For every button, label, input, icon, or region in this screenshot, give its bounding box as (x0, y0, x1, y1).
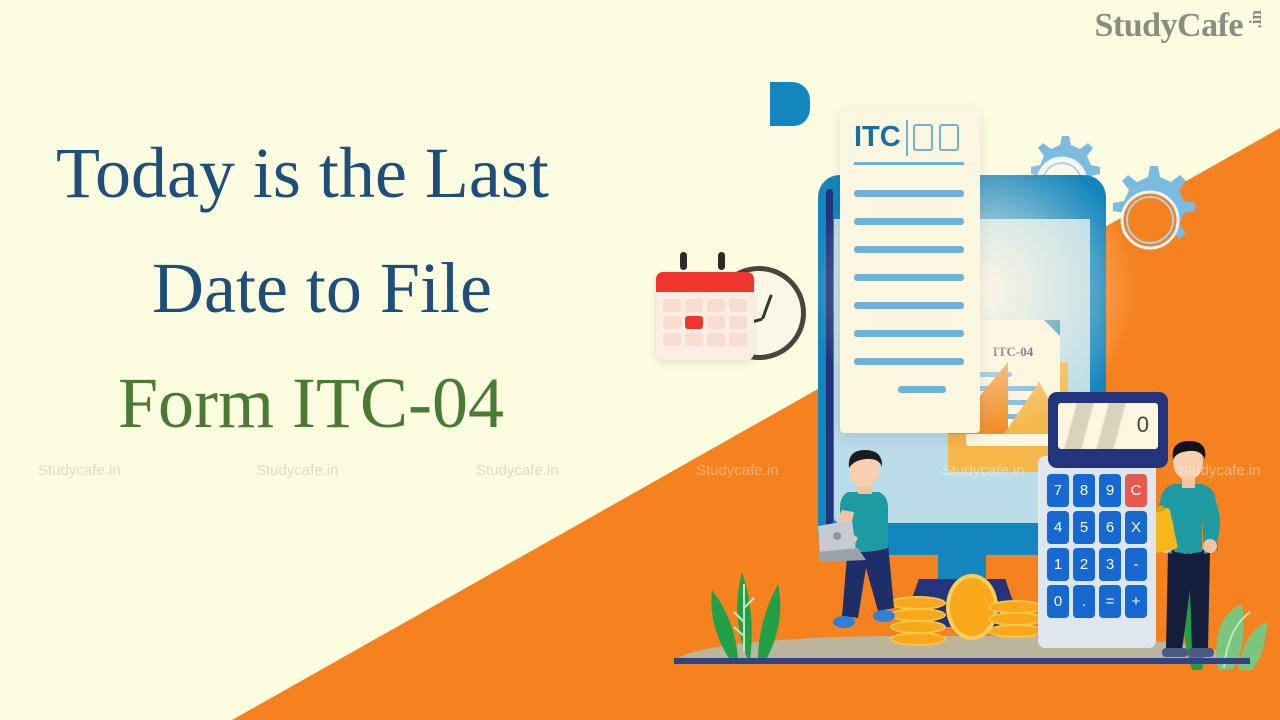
calculator-display: 0 (1058, 403, 1158, 449)
document-text-line (854, 218, 964, 225)
document-text-line (854, 330, 964, 337)
headline: Today is the Last Date to File Form ITC-… (0, 116, 700, 461)
document-text-line (854, 358, 964, 365)
headline-line-3: Form ITC-04 (0, 346, 700, 461)
calc-key[interactable]: = (1099, 585, 1121, 618)
calc-key[interactable]: 8 (1073, 474, 1095, 507)
document-text-line (854, 246, 964, 253)
banner-canvas: StudyCafe .in Today is the Last Date to … (0, 0, 1280, 720)
calc-key[interactable]: 9 (1099, 474, 1121, 507)
document-text-line (854, 302, 964, 309)
calc-key[interactable]: 3 (1099, 548, 1121, 581)
display-glare (1062, 403, 1136, 449)
document-rule (854, 162, 964, 165)
hero-illustration: ITC-04 ITC (640, 80, 1280, 680)
calc-key[interactable]: 7 (1047, 474, 1069, 507)
calculator-display-housing: 0 (1048, 392, 1168, 468)
calc-key[interactable]: 4 (1047, 511, 1069, 544)
studycafe-logo[interactable]: StudyCafe .in (1094, 6, 1264, 46)
watermark: Studycafe.in (942, 462, 1025, 479)
calc-key[interactable]: - (1125, 548, 1147, 581)
watermark: Studycafe.in (1178, 462, 1261, 479)
watermark: Studycafe.in (476, 462, 559, 479)
calc-key[interactable]: 1 (1047, 548, 1069, 581)
calculator-display-value: 0 (1137, 413, 1149, 437)
ground-baseline (674, 658, 1250, 664)
calc-key[interactable]: 2 (1073, 548, 1095, 581)
document-text-line (854, 190, 964, 197)
calc-key-clear[interactable]: C (1125, 474, 1147, 507)
calc-key[interactable]: X (1125, 511, 1147, 544)
watermark: Studycafe.in (38, 462, 121, 479)
document-text-line (854, 274, 964, 281)
document-checkbox (939, 124, 959, 151)
document-curl (770, 82, 810, 126)
headline-line-2: Date to File (0, 231, 700, 346)
calculator-body: 7 8 9 C 4 5 6 X 1 2 3 - 0 . = + (1038, 456, 1156, 648)
itc-document: ITC (840, 108, 980, 433)
document-text-line (898, 386, 946, 393)
plant-left (700, 510, 810, 665)
calc-key[interactable]: + (1125, 585, 1147, 618)
calc-key[interactable]: . (1073, 585, 1095, 618)
calc-key[interactable]: 0 (1047, 585, 1069, 618)
logo-tld: .in (1247, 10, 1264, 28)
document-title: ITC (854, 122, 901, 152)
logo-wordmark: StudyCafe (1094, 6, 1243, 46)
watermark: Studycafe.in (256, 462, 339, 479)
watermark: Studycafe.in (696, 462, 779, 479)
document-divider (906, 120, 908, 156)
calculator-keypad: 7 8 9 C 4 5 6 X 1 2 3 - 0 . = + (1047, 474, 1147, 618)
document-checkbox (913, 124, 933, 151)
calculator-graphic: 7 8 9 C 4 5 6 X 1 2 3 - 0 . = + (1038, 392, 1168, 648)
calc-key[interactable]: 6 (1099, 511, 1121, 544)
person-with-laptop (818, 448, 908, 638)
calc-key[interactable]: 5 (1073, 511, 1095, 544)
headline-line-1: Today is the Last (0, 116, 700, 231)
calendar-ring-icon (718, 252, 725, 270)
